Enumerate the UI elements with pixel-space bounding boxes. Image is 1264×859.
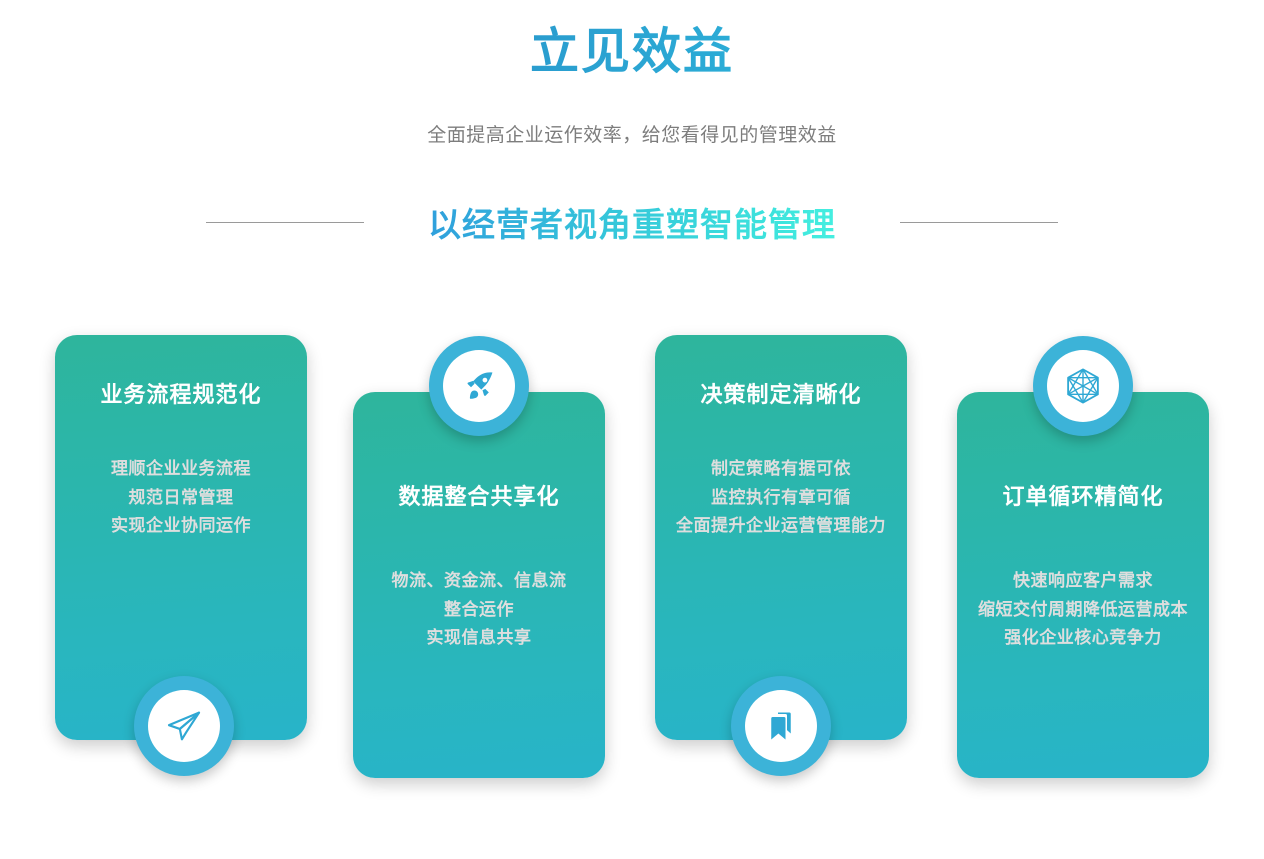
paper-plane-icon bbox=[164, 706, 204, 746]
card-description: 制定策略有据可依 监控执行有章可循 全面提升企业运营管理能力 bbox=[669, 455, 893, 541]
feature-card-order-cycle[interactable]: 订单循环精简化 快速响应客户需求 缩短交付周期降低运营成本 强化企业核心竞争力 bbox=[957, 392, 1209, 778]
badge-inner-circle bbox=[443, 350, 515, 422]
network-hexagon-icon bbox=[1062, 365, 1104, 407]
card-description: 理顺企业业务流程 规范日常管理 实现企业协同运作 bbox=[69, 455, 293, 541]
badge-inner-circle bbox=[148, 690, 220, 762]
card-title: 决策制定清晰化 bbox=[669, 382, 893, 408]
card-title: 业务流程规范化 bbox=[69, 382, 293, 408]
rocket-icon-badge[interactable] bbox=[429, 336, 529, 436]
card-description: 快速响应客户需求 缩短交付周期降低运营成本 强化企业核心竞争力 bbox=[971, 567, 1195, 653]
paper-plane-icon-badge[interactable] bbox=[134, 676, 234, 776]
card-description: 物流、资金流、信息流 整合运作 实现信息共享 bbox=[367, 567, 591, 653]
bookmark-icon bbox=[763, 708, 799, 744]
badge-inner-circle bbox=[1047, 350, 1119, 422]
network-hexagon-icon-badge[interactable] bbox=[1033, 336, 1133, 436]
bookmark-icon-badge[interactable] bbox=[731, 676, 831, 776]
rocket-icon bbox=[460, 367, 498, 405]
card-title: 数据整合共享化 bbox=[367, 484, 591, 510]
feature-card-list: 业务流程规范化 理顺企业业务流程 规范日常管理 实现企业协同运作 数据整合共享化… bbox=[0, 0, 1264, 859]
badge-inner-circle bbox=[745, 690, 817, 762]
page-root: 立见效益 全面提高企业运作效率，给您看得见的管理效益 以经营者视角重塑智能管理 … bbox=[0, 0, 1264, 859]
card-title: 订单循环精简化 bbox=[971, 484, 1195, 510]
feature-card-data-integration[interactable]: 数据整合共享化 物流、资金流、信息流 整合运作 实现信息共享 bbox=[353, 392, 605, 778]
